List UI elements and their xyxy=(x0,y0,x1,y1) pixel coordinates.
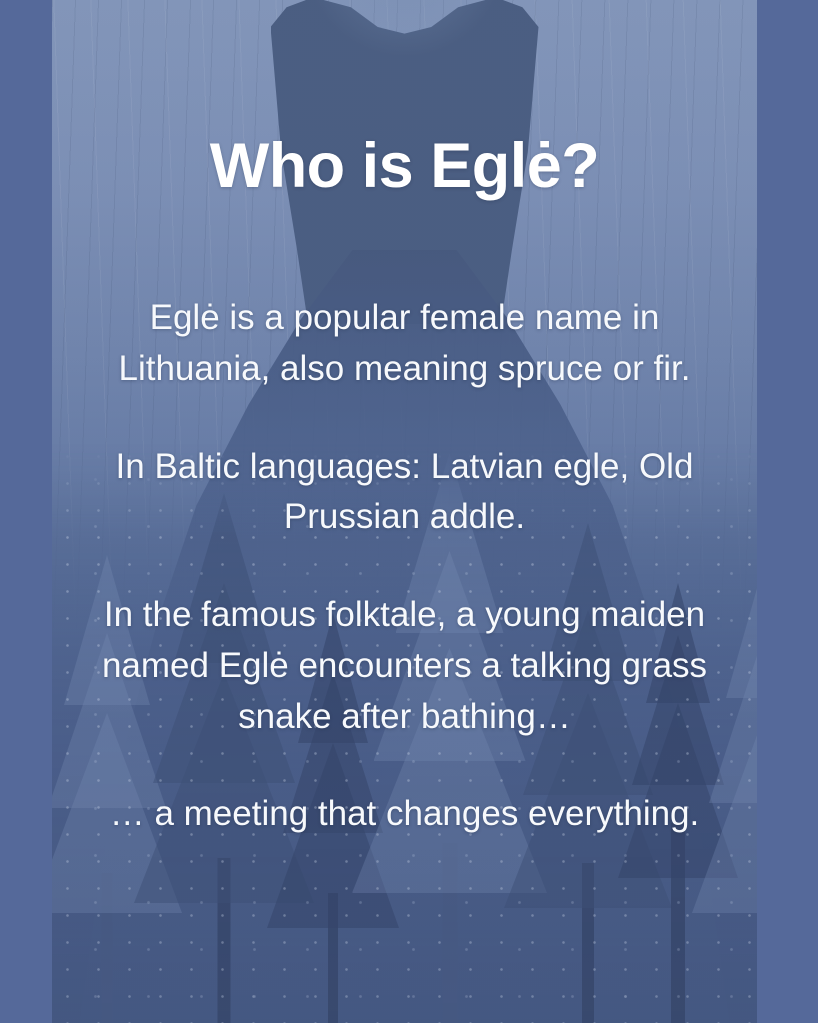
paragraph-closing: … a meeting that changes everything. xyxy=(76,789,733,840)
paragraph-folktale: In the famous folktale, a young maiden n… xyxy=(76,590,733,742)
text-content: Who is Eglė? Eglė is a popular female na… xyxy=(52,0,757,1023)
right-side-band xyxy=(757,0,818,1023)
paragraph-name-meaning: Eglė is a popular female name in Lithuan… xyxy=(76,293,733,395)
paragraph-baltic-languages: In Baltic languages: Latvian egle, Old P… xyxy=(76,442,733,544)
body-copy: Eglė is a popular female name in Lithuan… xyxy=(76,199,733,840)
slide-canvas: Who is Eglė? Eglė is a popular female na… xyxy=(0,0,818,1023)
page-title: Who is Eglė? xyxy=(76,0,733,199)
left-side-band xyxy=(0,0,52,1023)
